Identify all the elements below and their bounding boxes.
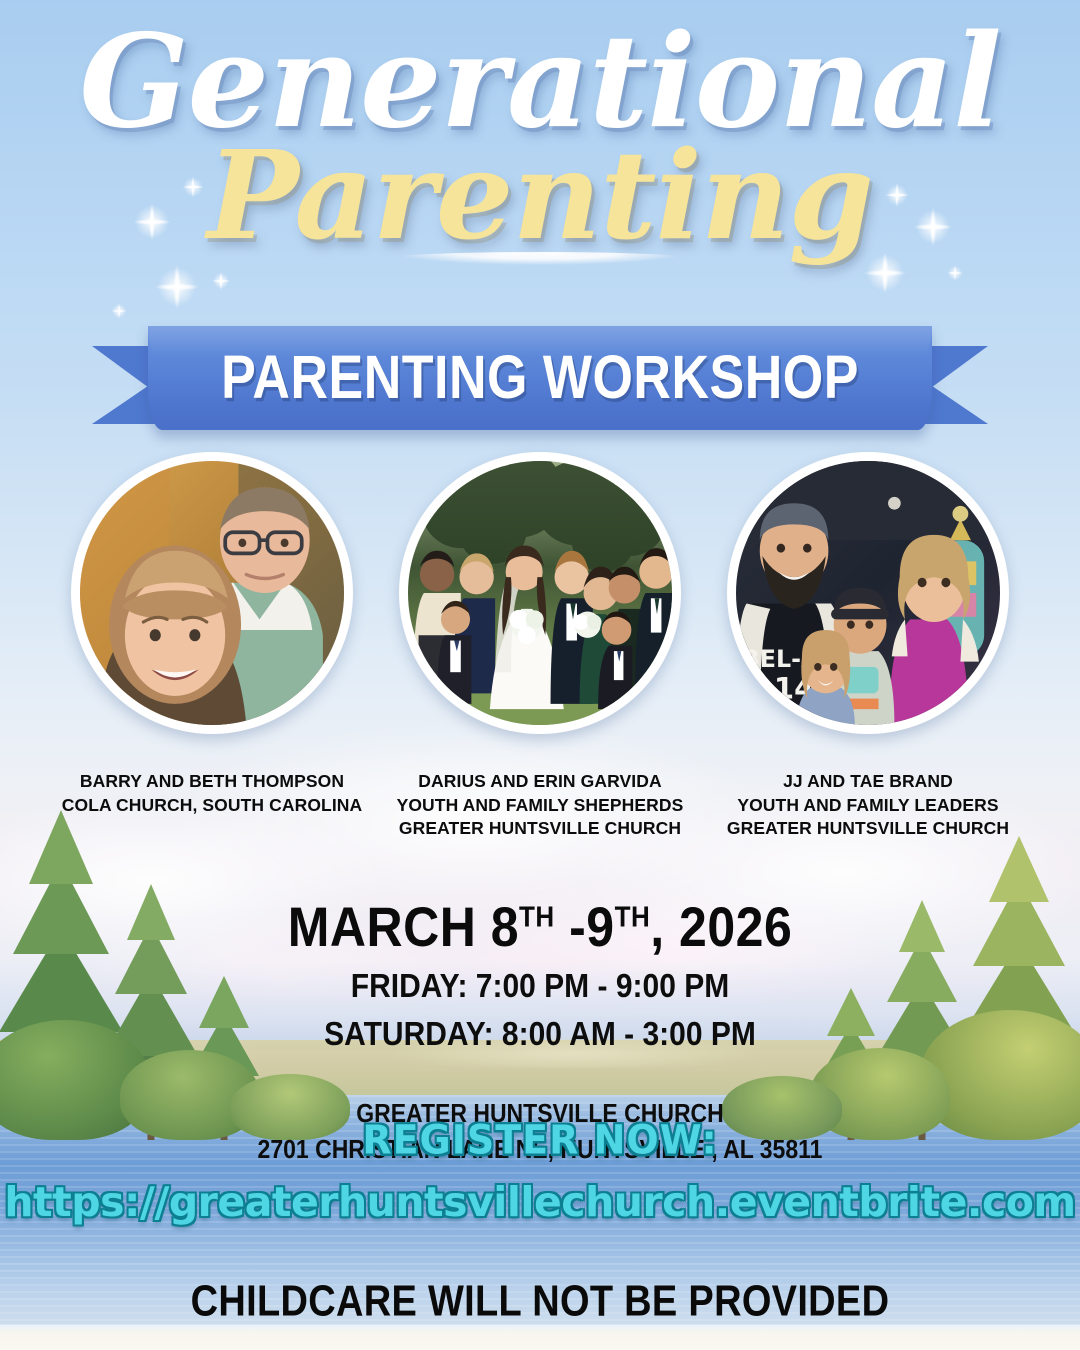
date-year: , 2026 <box>650 896 792 959</box>
sparkle-icon <box>146 256 208 318</box>
flyer-canvas: Generational Parenting PARENTING WORKSHO… <box>0 0 1080 1350</box>
sparkle-icon <box>944 262 966 284</box>
caption-line: YOUTH AND FAMILY SHEPHERDS <box>397 794 684 818</box>
speaker-card-thompson: BARRY AND BETH THOMPSON COLA CHURCH, SOU… <box>62 452 362 817</box>
flyer-headline: Generational Parenting <box>0 18 1080 265</box>
friday-schedule: FRIDAY: 7:00 PM - 9:00 PM <box>0 968 1080 1005</box>
speaker-caption-thompson: BARRY AND BETH THOMPSON COLA CHURCH, SOU… <box>62 770 363 817</box>
photo-ring <box>399 452 681 734</box>
date-day-2-suffix: TH <box>615 899 651 933</box>
photo-ring: BEL-AIR 14 <box>727 452 1009 734</box>
photo-ring <box>71 452 353 734</box>
registration-url-link[interactable]: https://greaterhuntsvillechurch.eventbri… <box>0 1178 1080 1226</box>
photo-jj-and-tae-brand: BEL-AIR 14 <box>736 461 1000 725</box>
footer-block: CHILDCARE WILL NOT BE PROVIDED <box>0 1281 1080 1324</box>
saturday-schedule: SATURDAY: 8:00 AM - 3:00 PM <box>0 1016 1080 1053</box>
date-month: MARCH <box>288 896 477 959</box>
ribbon-banner: PARENTING WORKSHOP <box>0 318 1080 448</box>
caption-line: GREATER HUNTSVILLE CHURCH <box>397 817 684 841</box>
caption-line: GREATER HUNTSVILLE CHURCH <box>727 817 1009 841</box>
register-now-label: REGISTER NOW: <box>0 1117 1080 1163</box>
ribbon-body: PARENTING WORKSHOP <box>148 326 932 430</box>
date-day-1: 8 <box>491 896 519 959</box>
caption-line: DARIUS AND ERIN GARVIDA <box>397 770 684 794</box>
speakers-row: BARRY AND BETH THOMPSON COLA CHURCH, SOU… <box>0 452 1080 841</box>
page-bottom-edge <box>0 1324 1080 1350</box>
date-day-2: 9 <box>586 896 614 959</box>
photo-barry-and-beth-thompson <box>80 461 344 725</box>
speaker-card-brand: BEL-AIR 14 <box>718 452 1018 841</box>
caption-line: JJ AND TAE BRAND <box>727 770 1009 794</box>
caption-line: YOUTH AND FAMILY LEADERS <box>727 794 1009 818</box>
banner-label-parenting-workshop: PARENTING WORKSHOP <box>221 343 859 414</box>
caption-line: COLA CHURCH, SOUTH CAROLINA <box>62 794 363 818</box>
caption-line: BARRY AND BETH THOMPSON <box>62 770 363 794</box>
childcare-notice: CHILDCARE WILL NOT BE PROVIDED <box>0 1278 1080 1327</box>
sparkle-icon <box>208 268 234 294</box>
date-range-dash: - <box>569 896 586 959</box>
photo-darius-and-erin-garvida <box>408 461 672 725</box>
registration-block: REGISTER NOW: https://greaterhuntsvillec… <box>0 1118 1080 1226</box>
speaker-caption-brand: JJ AND TAE BRAND YOUTH AND FAMILY LEADER… <box>727 770 1009 841</box>
event-date: MARCH 8TH -9TH, 2026 <box>0 895 1080 960</box>
speaker-card-garvida: DARIUS AND ERIN GARVIDA YOUTH AND FAMILY… <box>390 452 690 841</box>
date-day-1-suffix: TH <box>519 899 555 933</box>
speaker-caption-garvida: DARIUS AND ERIN GARVIDA YOUTH AND FAMILY… <box>397 770 684 841</box>
